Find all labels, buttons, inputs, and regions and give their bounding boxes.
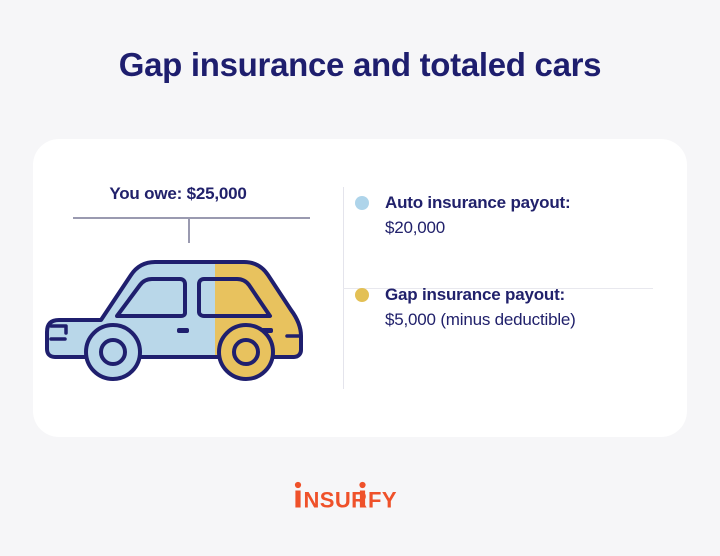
illustration-panel: You owe: $25,000 xyxy=(33,139,343,437)
page-title: Gap insurance and totaled cars xyxy=(0,46,720,84)
auto-insurance-value: $20,000 xyxy=(385,216,675,241)
insurify-wordmark-icon: NSUR FY xyxy=(290,480,430,510)
content-card: You owe: $25,000 xyxy=(33,139,687,437)
auto-insurance-label: Auto insurance payout: xyxy=(385,193,570,212)
payout-legend: Auto insurance payout: $20,000 Gap insur… xyxy=(355,191,675,333)
gap-insurance-label: Gap insurance payout: xyxy=(385,285,565,304)
amount-owed-tick xyxy=(188,219,190,243)
svg-text:FY: FY xyxy=(368,488,397,511)
svg-text:NSUR: NSUR xyxy=(304,488,368,511)
gap-insurance-value: $5,000 (minus deductible) xyxy=(385,308,675,333)
suv-car-icon xyxy=(39,244,314,389)
amount-owed-label: You owe: $25,000 xyxy=(33,184,323,204)
gap-insurance-dot xyxy=(355,288,369,302)
auto-insurance-dot xyxy=(355,196,369,210)
insurify-logo: NSUR FY xyxy=(0,480,720,510)
infographic-page: Gap insurance and totaled cars You owe: … xyxy=(0,0,720,556)
legend-item-gap-insurance: Gap insurance payout: $5,000 (minus dedu… xyxy=(355,283,675,332)
legend-item-auto-insurance: Auto insurance payout: $20,000 xyxy=(355,191,675,240)
amount-owed-rule xyxy=(73,217,310,219)
